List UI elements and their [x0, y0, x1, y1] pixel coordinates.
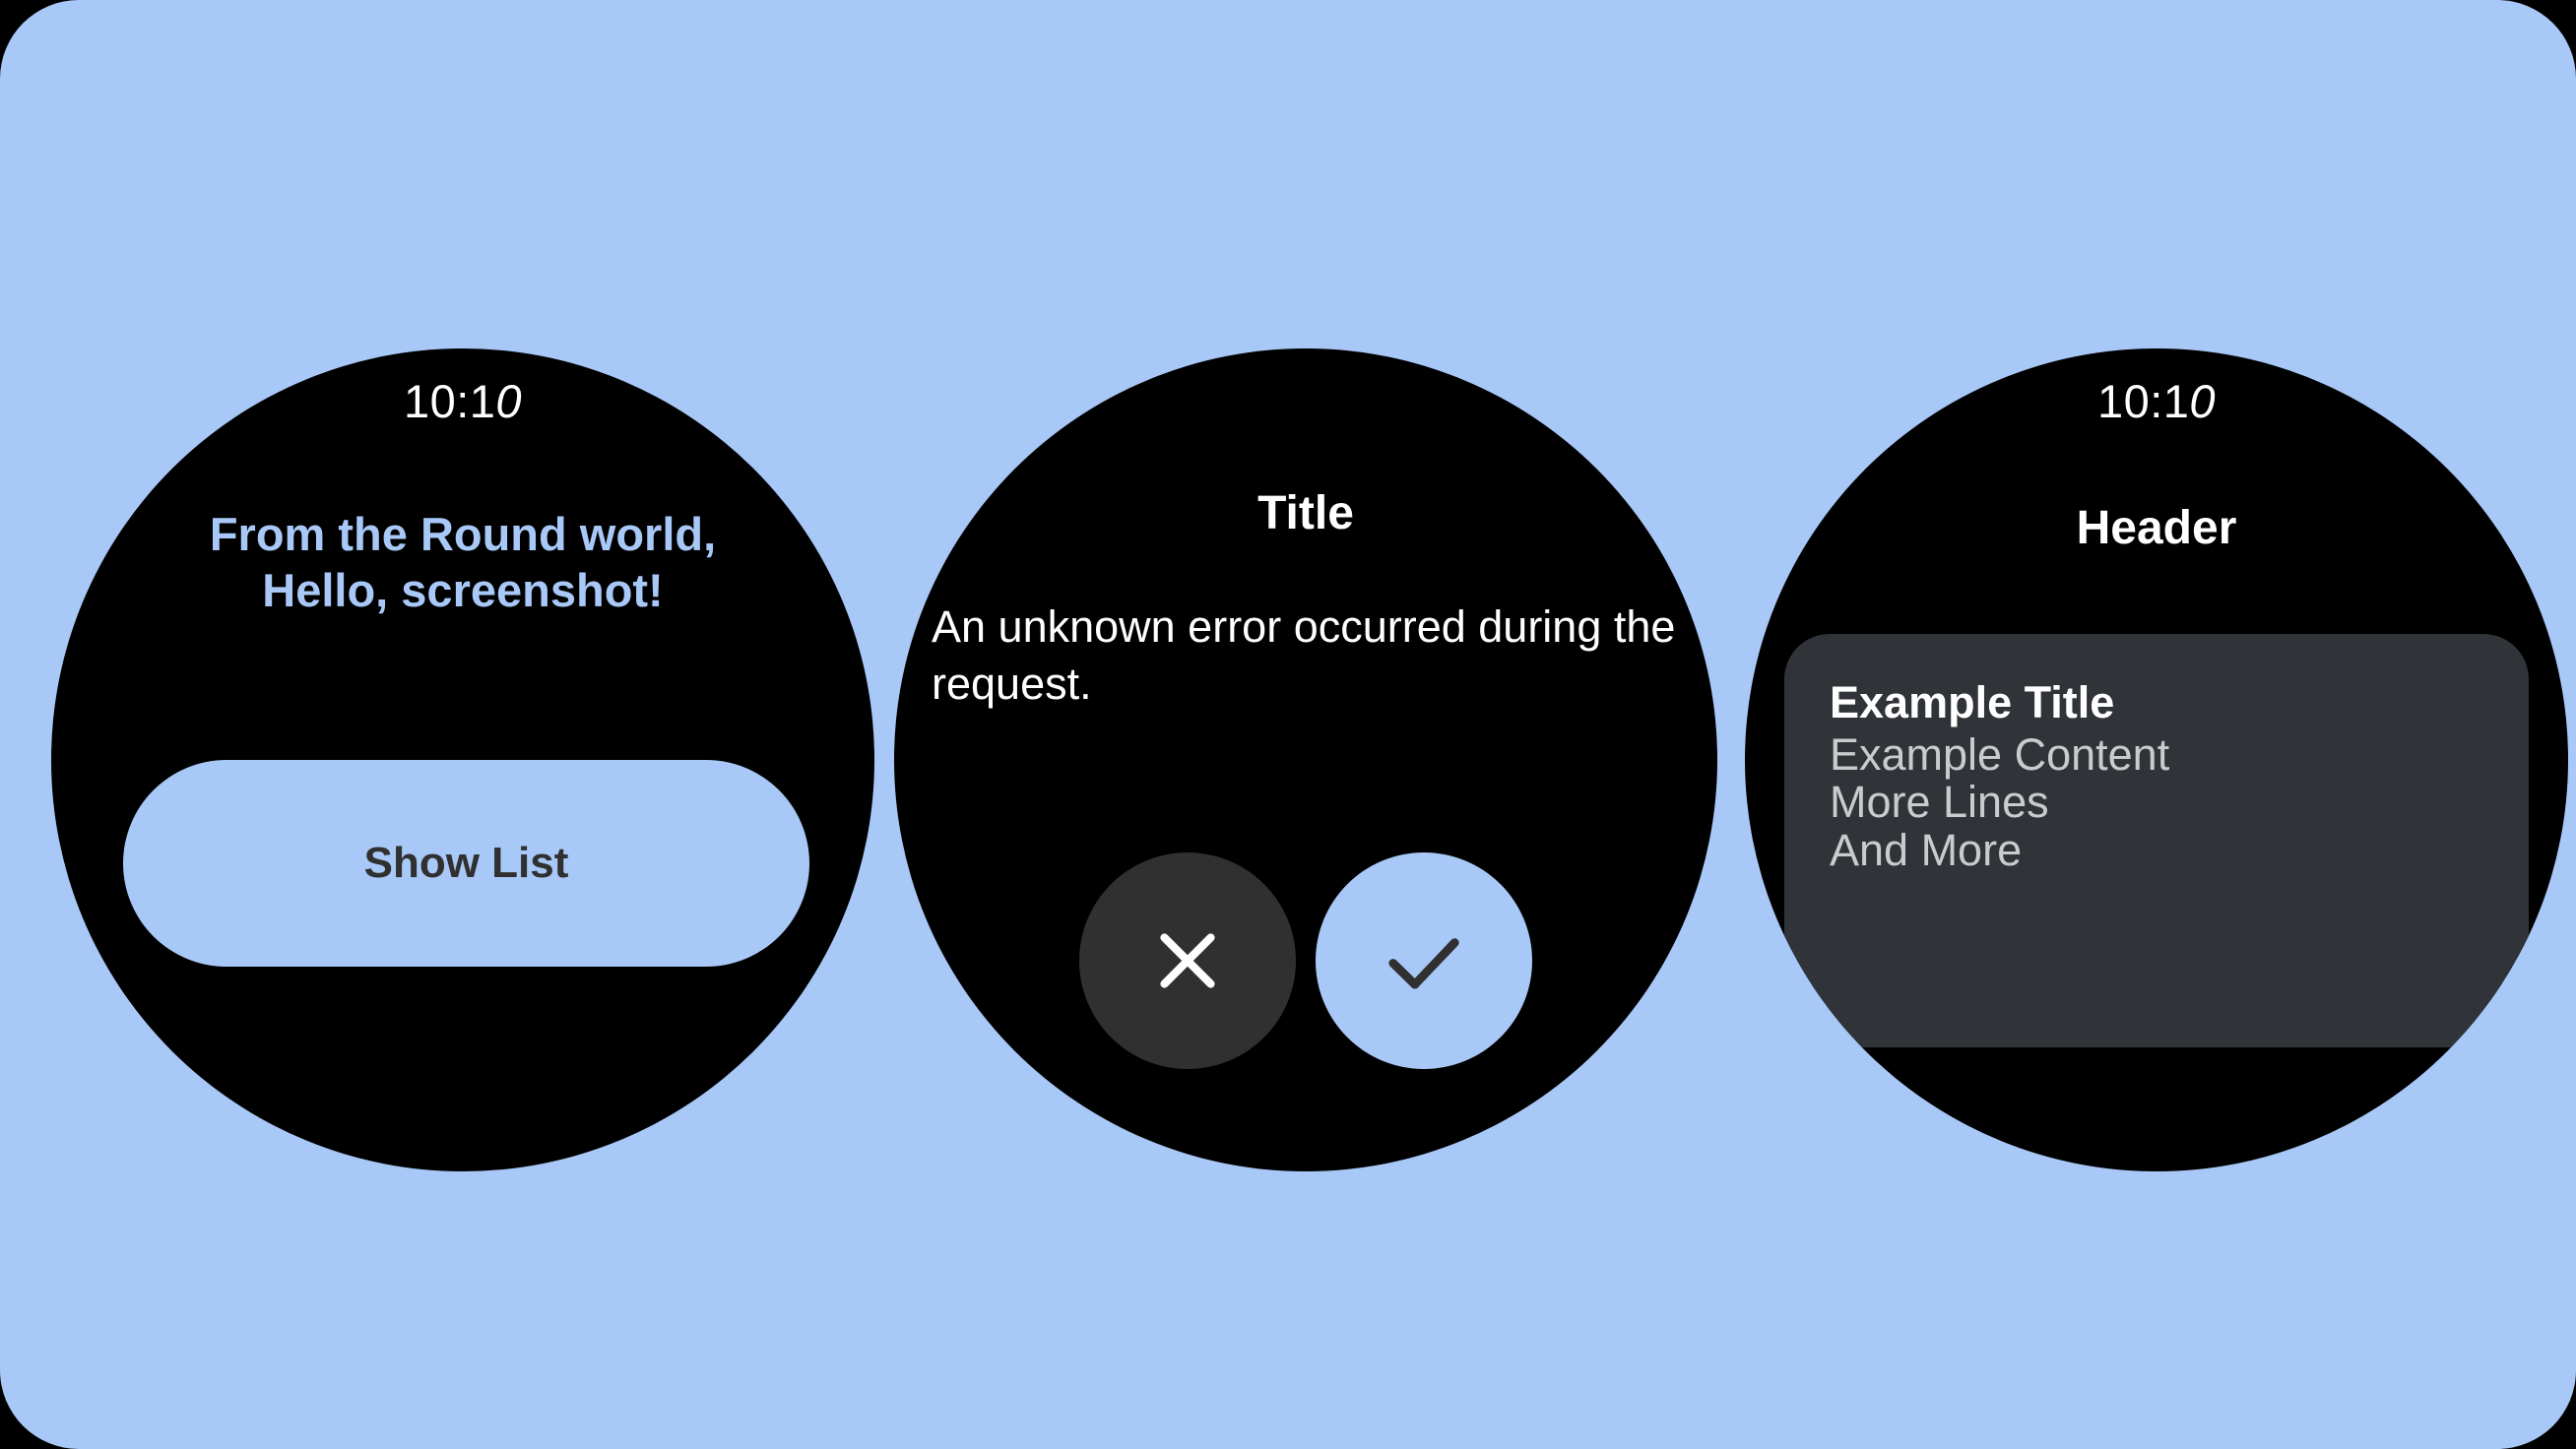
status-time: 10:10 [51, 374, 874, 428]
header-label: Header [1745, 501, 2568, 555]
time-value-minutes-last: 0 [2189, 375, 2216, 427]
dialog-title: Title [894, 486, 1717, 540]
time-value: 10:1 [404, 375, 495, 427]
dialog-message: An unknown error occurred during the req… [932, 598, 1680, 712]
check-icon [1375, 912, 1473, 1010]
time-value: 10:1 [2097, 375, 2189, 427]
watch-preview-round-dialog: Title An unknown error occurred during t… [894, 348, 1717, 1171]
screenshot-canvas: 10:10 From the Round world, Hello, scree… [0, 0, 2576, 1449]
greeting-line-2: Hello, screenshot! [91, 562, 835, 618]
example-card[interactable]: Example Title Example Content More Lines… [1784, 634, 2529, 1047]
watch-preview-round-greeting: 10:10 From the Round world, Hello, scree… [51, 348, 874, 1171]
dismiss-button[interactable] [1079, 852, 1296, 1069]
time-value-minutes-last: 0 [495, 375, 522, 427]
card-line-1: Example Content [1830, 731, 2483, 780]
watch-preview-round-card-list: 10:10 Header Example Title Example Conte… [1745, 348, 2568, 1171]
confirm-button[interactable] [1316, 852, 1532, 1069]
watch-screen: 10:10 Header Example Title Example Conte… [1745, 348, 2568, 1171]
watch-screen: Title An unknown error occurred during t… [894, 348, 1717, 1171]
card-title: Example Title [1830, 679, 2483, 727]
status-time: 10:10 [1745, 374, 2568, 428]
dialog-button-row [894, 852, 1717, 1069]
watch-screen: 10:10 From the Round world, Hello, scree… [51, 348, 874, 1171]
card-line-3: And More [1830, 827, 2483, 875]
card-clip-region: Example Title Example Content More Lines… [1745, 348, 2568, 1171]
card-line-2: More Lines [1830, 779, 2483, 827]
greeting-text: From the Round world, Hello, screenshot! [91, 506, 835, 619]
greeting-line-1: From the Round world, [91, 506, 835, 562]
close-icon [1141, 914, 1234, 1007]
show-list-button[interactable]: Show List [123, 760, 809, 967]
